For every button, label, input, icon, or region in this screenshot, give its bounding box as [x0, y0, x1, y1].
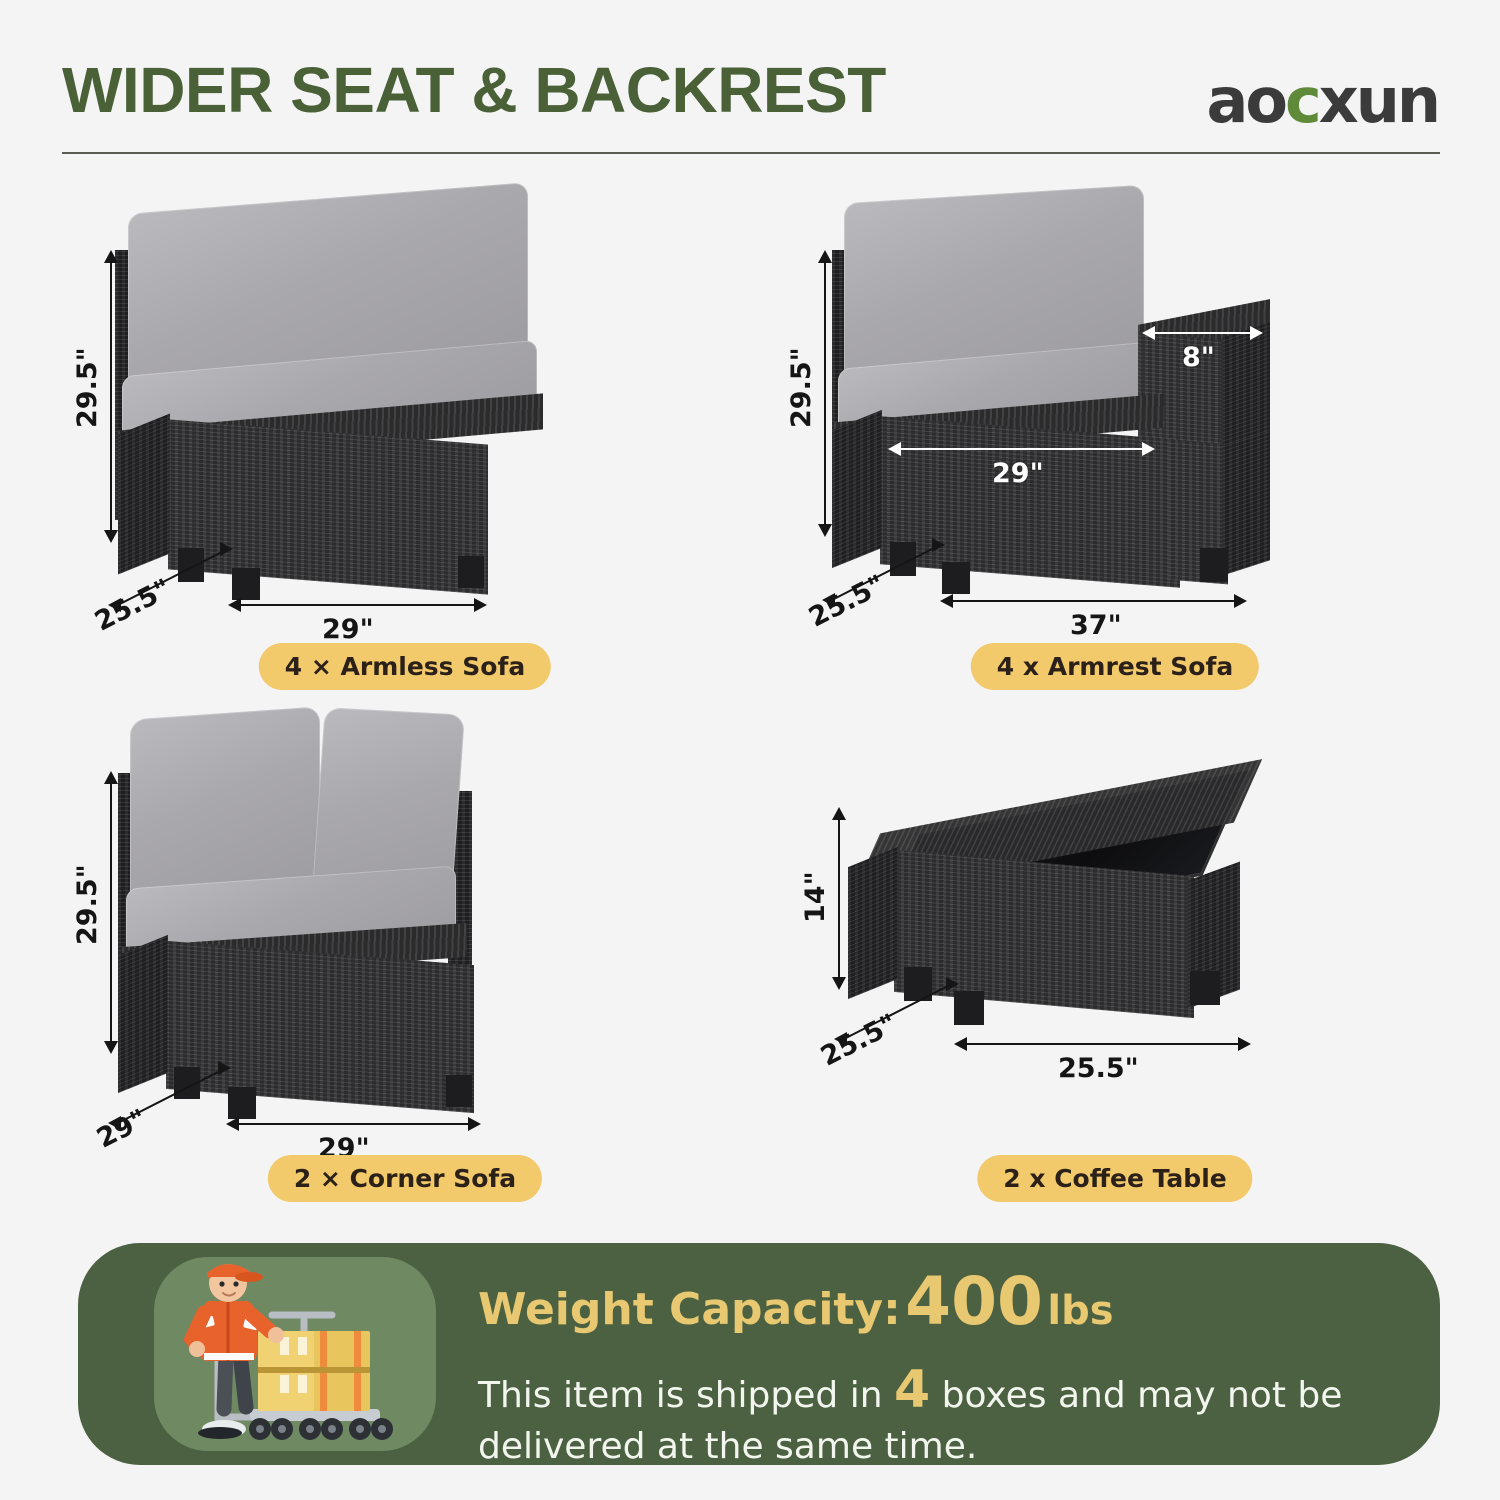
height-dimension-line — [838, 819, 840, 977]
height-dimension-line — [110, 783, 112, 1041]
width-dimension-line — [950, 600, 1240, 602]
shipping-note: This item is shipped in 4 boxes and may … — [478, 1357, 1378, 1470]
armrest-width-total-label: 37" — [1070, 610, 1122, 641]
weight-capacity-label: Weight Capacity: — [478, 1284, 901, 1335]
width-dimension-line — [238, 604, 480, 606]
shipping-box-count: 4 — [894, 1360, 930, 1420]
page-header: WIDER SEAT & BACKREST aocxun — [0, 0, 1500, 175]
logo-part-xun: xun — [1319, 64, 1438, 137]
logo-part-ao: ao — [1207, 64, 1285, 137]
banner-text-block: Weight Capacity: 400 lbs This item is sh… — [478, 1263, 1418, 1470]
badge-armrest-sofa: 4 x Armrest Sofa — [971, 643, 1259, 690]
width-dimension-line — [236, 1123, 474, 1125]
armrest-depth-label: 25.5" — [804, 569, 890, 633]
height-dimension-line — [110, 262, 112, 530]
armrest-width-dimension-line — [1152, 332, 1256, 334]
badge-armless-sofa: 4 × Armless Sofa — [259, 643, 551, 690]
courier-illustration-panel — [154, 1257, 436, 1451]
armrest-sofa-illustration: 29.5" 8" 29" 25.5" 37" — [770, 180, 1460, 635]
header-divider — [62, 152, 1440, 154]
product-card-coffee-table: 14" 25.5" 25.5" 2 x Coffee Table — [770, 695, 1460, 1215]
armless-sofa-illustration: 29.5" 25.5" 29" — [60, 180, 750, 635]
table-depth-label: 25.5" — [816, 1008, 902, 1072]
coffee-table-illustration: 14" 25.5" 25.5" — [770, 695, 1460, 1150]
product-card-armrest-sofa: 29.5" 8" 29" 25.5" 37" 4 x Armrest Sofa — [770, 180, 1460, 700]
armrest-seat-width-label: 29" — [992, 458, 1044, 489]
armless-width-label: 29" — [322, 614, 374, 645]
armrest-height-label: 29.5" — [786, 347, 817, 428]
armless-depth-label: 25.5" — [90, 573, 176, 637]
height-dimension-line — [824, 262, 826, 524]
brand-logo-wordmark: aocxun — [1168, 62, 1438, 140]
table-width-label: 25.5" — [1058, 1053, 1139, 1084]
weight-capacity-unit: lbs — [1047, 1288, 1113, 1334]
table-height-label: 14" — [800, 871, 831, 923]
seat-width-dimension-line — [898, 448, 1148, 450]
product-card-corner-sofa: 29.5" 29" 29" 2 × Corner Sofa — [60, 695, 750, 1215]
armless-height-label: 29.5" — [72, 347, 103, 428]
brand-logo: aocxun — [1168, 62, 1438, 140]
armrest-width-label: 8" — [1182, 342, 1215, 373]
logo-part-c-green: c — [1285, 64, 1319, 137]
product-card-armless-sofa: 29.5" 25.5" 29" 4 × Armless Sofa — [60, 180, 750, 700]
shipping-info-banner: Weight Capacity: 400 lbs This item is sh… — [78, 1243, 1440, 1465]
weight-capacity-value: 400 — [905, 1263, 1043, 1340]
badge-coffee-table: 2 x Coffee Table — [977, 1155, 1252, 1202]
badge-corner-sofa: 2 × Corner Sofa — [268, 1155, 542, 1202]
width-dimension-line — [964, 1043, 1244, 1045]
page-title: WIDER SEAT & BACKREST — [62, 58, 886, 122]
shipping-note-part1: This item is shipped in — [478, 1375, 883, 1416]
corner-height-label: 29.5" — [72, 864, 103, 945]
corner-sofa-illustration: 29.5" 29" 29" — [60, 695, 750, 1150]
weight-capacity-line: Weight Capacity: 400 lbs — [478, 1269, 1418, 1335]
delivery-person-icon — [154, 1257, 436, 1451]
